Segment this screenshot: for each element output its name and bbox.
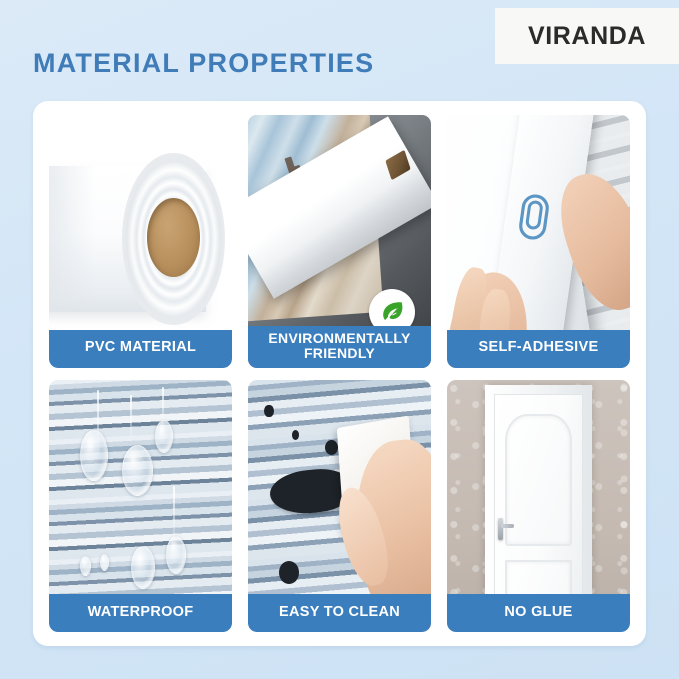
stain-dot: [279, 561, 299, 584]
stain-dot: [264, 405, 273, 418]
brand-name: VIRANDA: [528, 22, 646, 51]
feature-label-easy-to-clean: EASY TO CLEAN: [248, 594, 431, 632]
water-droplet: [122, 445, 153, 496]
water-streak: [130, 395, 132, 440]
door-handle: [498, 518, 503, 540]
feature-label-text: NO GLUE: [504, 605, 572, 621]
leaf-icon: [378, 298, 406, 326]
feature-label-pvc-material: PVC MATERIAL: [49, 330, 232, 368]
features-card: PVC MATERIAL: [33, 101, 646, 646]
feature-tile-waterproof[interactable]: WATERPROOF: [49, 380, 232, 633]
water-droplet: [131, 546, 155, 589]
feature-tile-pvc-material[interactable]: PVC MATERIAL: [49, 115, 232, 368]
stain-dot: [325, 440, 338, 455]
water-streak: [173, 486, 175, 542]
features-grid: PVC MATERIAL: [49, 115, 630, 632]
water-droplet: [100, 554, 109, 572]
feature-label-no-glue: NO GLUE: [447, 594, 630, 632]
stain-dot: [292, 430, 299, 440]
paperclip-icon: [513, 189, 554, 245]
water-droplet: [155, 420, 173, 453]
feature-label-environmentally-friendly: ENVIRONMENTALLY FRIENDLY: [248, 326, 431, 367]
feature-tile-easy-to-clean[interactable]: EASY TO CLEAN: [248, 380, 431, 633]
water-droplet: [80, 430, 107, 481]
roll-cardboard-core: [147, 198, 200, 276]
feature-label-line2: FRIENDLY: [268, 346, 410, 361]
door-panel-top: [505, 414, 571, 546]
feature-label-text: EASY TO CLEAN: [279, 605, 400, 621]
feature-tile-environmentally-friendly[interactable]: ENVIRONMENTALLY FRIENDLY: [248, 115, 431, 368]
feature-label-text: PVC MATERIAL: [85, 340, 196, 356]
feature-tile-self-adhesive[interactable]: SELF-ADHESIVE: [447, 115, 630, 368]
feature-label-line1: ENVIRONMENTALLY: [268, 331, 410, 346]
roll-edge-shape: [49, 166, 133, 312]
feature-label-self-adhesive: SELF-ADHESIVE: [447, 330, 630, 368]
feature-label-text: WATERPROOF: [88, 605, 194, 621]
water-droplet: [80, 556, 91, 576]
feature-tile-no-glue[interactable]: NO GLUE: [447, 380, 630, 633]
feature-label-waterproof: WATERPROOF: [49, 594, 232, 632]
water-droplet: [166, 536, 186, 574]
page-title: MATERIAL PROPERTIES: [33, 48, 374, 79]
brand-logo-box: VIRANDA: [495, 8, 679, 64]
feature-label-text: SELF-ADHESIVE: [479, 340, 599, 356]
